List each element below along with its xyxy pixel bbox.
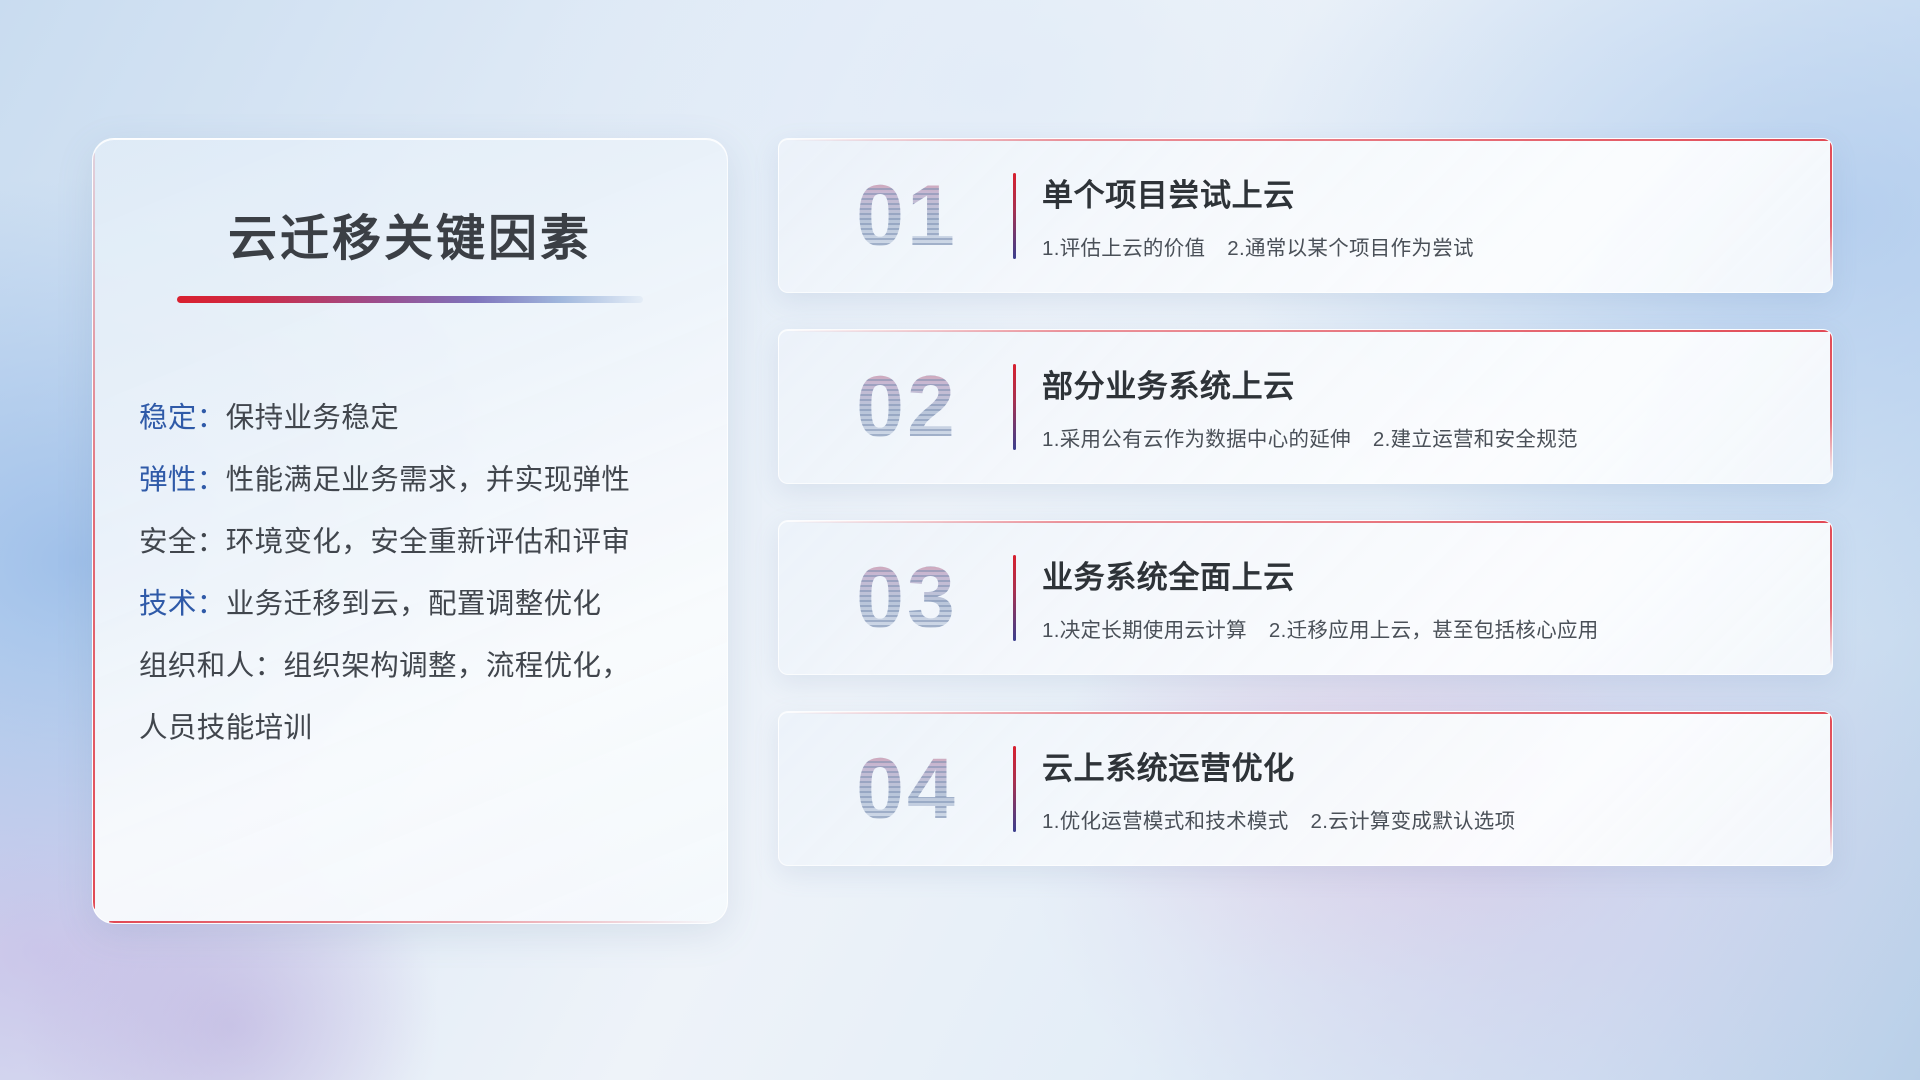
factor-item-continuation: 人员技能培训	[139, 697, 703, 759]
card-desc-part: 2.通常以某个项目作为尝试	[1227, 237, 1474, 260]
panel-bottom-accent-line	[109, 921, 717, 923]
card-description: 1.采用公有云作为数据中心的延伸2.建立运营和安全规范	[1042, 422, 1806, 452]
page-title: 云迁移关键因素	[93, 199, 727, 270]
card-title: 业务系统全面上云	[1042, 552, 1806, 597]
factor-text: 人员技能培训	[139, 712, 312, 744]
card-body: 云上系统运营优化 1.优化运营模式和技术模式2.云计算变成默认选项	[1042, 743, 1832, 834]
factor-text: 组织架构调整，流程优化，	[284, 650, 631, 682]
card-number: 04	[807, 746, 1007, 832]
factor-label: 组织和人：	[139, 650, 284, 682]
panel-left-accent-line	[93, 153, 95, 909]
factor-text: 性能满足业务需求，并实现弹性	[226, 464, 631, 496]
card-desc-part: 1.采用公有云作为数据中心的延伸	[1042, 428, 1351, 451]
card-right-accent-line	[1830, 139, 1832, 284]
factor-item: 组织和人：组织架构调整，流程优化，	[139, 635, 703, 697]
card-number: 01	[807, 173, 1007, 259]
slide-canvas: 云迁移关键因素 稳定：保持业务稳定 弹性：性能满足业务需求，并实现弹性 安全：环…	[0, 0, 1920, 1080]
card-body: 业务系统全面上云 1.决定长期使用云计算2.迁移应用上云，甚至包括核心应用	[1042, 552, 1832, 643]
card-top-accent-line	[789, 712, 1832, 714]
stage-card[interactable]: 04 云上系统运营优化 1.优化运营模式和技术模式2.云计算变成默认选项	[778, 711, 1833, 866]
card-description: 1.优化运营模式和技术模式2.云计算变成默认选项	[1042, 804, 1806, 834]
key-factors-panel: 云迁移关键因素 稳定：保持业务稳定 弹性：性能满足业务需求，并实现弹性 安全：环…	[92, 138, 728, 924]
card-body: 单个项目尝试上云 1.评估上云的价值2.通常以某个项目作为尝试	[1042, 170, 1832, 261]
factor-label: 安全：	[139, 526, 226, 558]
stage-card[interactable]: 02 部分业务系统上云 1.采用公有云作为数据中心的延伸2.建立运营和安全规范	[778, 329, 1833, 484]
card-desc-part: 2.云计算变成默认选项	[1311, 810, 1516, 833]
factor-item: 技术：业务迁移到云，配置调整优化	[139, 573, 703, 635]
card-desc-part: 1.决定长期使用云计算	[1042, 619, 1247, 642]
card-accent-bar	[1013, 746, 1016, 832]
stage-card-list: 01 单个项目尝试上云 1.评估上云的价值2.通常以某个项目作为尝试 02 部分…	[778, 138, 1833, 866]
card-title: 单个项目尝试上云	[1042, 170, 1806, 215]
factor-item: 弹性：性能满足业务需求，并实现弹性	[139, 449, 703, 511]
card-desc-part: 1.优化运营模式和技术模式	[1042, 810, 1289, 833]
card-right-accent-line	[1830, 521, 1832, 666]
factor-text: 业务迁移到云，配置调整优化	[226, 588, 602, 620]
card-description: 1.评估上云的价值2.通常以某个项目作为尝试	[1042, 231, 1806, 261]
card-top-accent-line	[789, 139, 1832, 141]
card-accent-bar	[1013, 364, 1016, 450]
card-accent-bar	[1013, 173, 1016, 259]
stage-card[interactable]: 01 单个项目尝试上云 1.评估上云的价值2.通常以某个项目作为尝试	[778, 138, 1833, 293]
title-underline-gradient	[177, 296, 643, 303]
card-title: 云上系统运营优化	[1042, 743, 1806, 788]
card-right-accent-line	[1830, 330, 1832, 475]
card-right-accent-line	[1830, 712, 1832, 857]
card-title: 部分业务系统上云	[1042, 361, 1806, 406]
factor-item: 稳定：保持业务稳定	[139, 387, 703, 449]
factor-text: 保持业务稳定	[226, 402, 399, 434]
factor-label: 稳定：	[139, 402, 226, 434]
factor-list: 稳定：保持业务稳定 弹性：性能满足业务需求，并实现弹性 安全：环境变化，安全重新…	[139, 387, 727, 759]
card-number: 03	[807, 555, 1007, 641]
card-top-accent-line	[789, 330, 1832, 332]
card-number: 02	[807, 364, 1007, 450]
card-top-accent-line	[789, 521, 1832, 523]
factor-label: 弹性：	[139, 464, 226, 496]
factor-text: 环境变化，安全重新评估和评审	[226, 526, 631, 558]
card-desc-part: 2.迁移应用上云，甚至包括核心应用	[1269, 619, 1599, 642]
card-body: 部分业务系统上云 1.采用公有云作为数据中心的延伸2.建立运营和安全规范	[1042, 361, 1832, 452]
factor-label: 技术：	[139, 588, 226, 620]
factor-item: 安全：环境变化，安全重新评估和评审	[139, 511, 703, 573]
card-accent-bar	[1013, 555, 1016, 641]
card-desc-part: 1.评估上云的价值	[1042, 237, 1205, 260]
card-description: 1.决定长期使用云计算2.迁移应用上云，甚至包括核心应用	[1042, 613, 1806, 643]
card-desc-part: 2.建立运营和安全规范	[1373, 428, 1578, 451]
stage-card[interactable]: 03 业务系统全面上云 1.决定长期使用云计算2.迁移应用上云，甚至包括核心应用	[778, 520, 1833, 675]
